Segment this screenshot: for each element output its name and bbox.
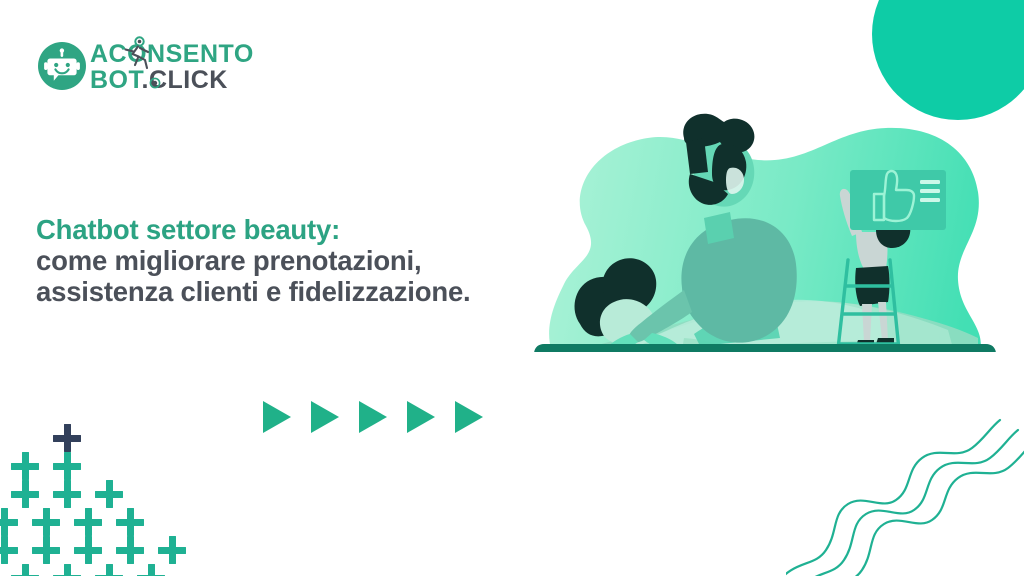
plus-icon bbox=[11, 452, 39, 480]
plus-icon bbox=[137, 564, 165, 576]
plus-icon bbox=[11, 564, 39, 576]
plus-icon bbox=[0, 508, 18, 536]
wave-lines-decoration bbox=[786, 418, 1024, 576]
plus-icon bbox=[95, 480, 123, 508]
plus-icon bbox=[53, 564, 81, 576]
logo-line-acconsento: ACONSENTO bbox=[90, 40, 254, 69]
plus-icon bbox=[95, 564, 123, 576]
plus-icon bbox=[53, 452, 81, 480]
banner-canvas: ACONSENTO BOT.CLICK Chatbot settore beau… bbox=[0, 0, 1024, 576]
plus-icon bbox=[0, 536, 18, 564]
review-card bbox=[850, 170, 946, 230]
massage-table-base bbox=[568, 380, 962, 420]
plus-icon bbox=[11, 480, 39, 508]
review-card-text-lines bbox=[920, 180, 940, 202]
dot-person-icon bbox=[148, 76, 162, 90]
plus-icon bbox=[116, 536, 144, 564]
plus-icon bbox=[116, 508, 144, 536]
headline-line-2: come migliorare prenotazioni, bbox=[36, 245, 536, 276]
spa-massage-illustration bbox=[534, 108, 1004, 420]
running-person-icon bbox=[119, 36, 155, 74]
play-triangle-icon bbox=[407, 401, 435, 433]
play-triangle-icon bbox=[359, 401, 387, 433]
headline-line-3: assistenza clienti e fidelizzazione. bbox=[36, 276, 536, 307]
massage-table bbox=[534, 344, 996, 380]
arrow-decoration-row bbox=[263, 401, 483, 433]
plus-icon bbox=[53, 424, 81, 452]
brand-logo[interactable]: ACONSENTO BOT.CLICK bbox=[38, 40, 270, 94]
plus-icon bbox=[53, 480, 81, 508]
robot-chat-icon bbox=[38, 42, 86, 90]
plus-icon bbox=[74, 508, 102, 536]
page-title: Chatbot settore beauty: come migliorare … bbox=[36, 214, 536, 307]
plus-pattern-decoration bbox=[0, 424, 290, 576]
plus-icon bbox=[158, 536, 186, 564]
play-triangle-icon bbox=[311, 401, 339, 433]
top-right-circle bbox=[872, 0, 1024, 120]
plus-icon bbox=[74, 536, 102, 564]
plus-icon bbox=[32, 536, 60, 564]
plus-icon bbox=[32, 508, 60, 536]
play-triangle-icon bbox=[455, 401, 483, 433]
headline-line-1: Chatbot settore beauty: bbox=[36, 214, 536, 245]
logo-wordmark: ACONSENTO BOT.CLICK bbox=[90, 40, 270, 94]
